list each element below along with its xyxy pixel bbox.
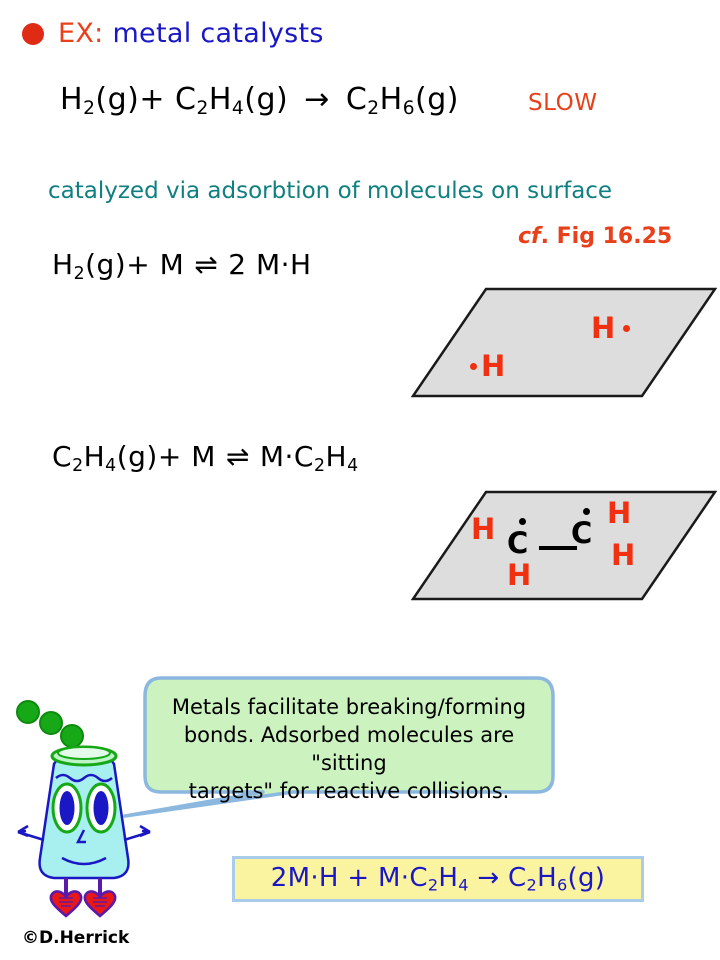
page-title: EX: metal catalysts <box>58 18 324 49</box>
speech-line-2: bonds. Adsorbed molecules are "sitting <box>143 722 555 778</box>
reaction-arrow-icon: → <box>288 82 346 117</box>
step2-metal: M <box>191 440 216 473</box>
title-main-label: metal catalysts <box>112 18 323 49</box>
figure-reference-rest: . Fig 16.25 <box>541 224 673 249</box>
bubble-icon-3 <box>61 725 83 747</box>
carbon-atom-left: C <box>507 526 528 560</box>
step-1-equation: H2(g)+ M⇌2 M·H <box>52 248 312 284</box>
step1-plus: + <box>126 248 150 281</box>
flask-character-svg <box>4 690 164 920</box>
eq-c2h6-state: (g) <box>415 82 459 117</box>
step1-h: H <box>52 248 74 281</box>
sum-term1: 2M·H <box>271 863 339 893</box>
eq-c2h4-h: H <box>209 82 232 117</box>
step2-plus: + <box>158 440 182 473</box>
step1-h-sub: 2 <box>74 264 86 284</box>
speech-line-1: Metals facilitate breaking/forming <box>143 694 555 722</box>
eq-c2h4-state: (g) <box>244 82 288 117</box>
eq-c2h6-c-sub: 2 <box>367 98 379 119</box>
sum-prod-h: H <box>537 863 557 893</box>
eq-plus: + <box>139 82 165 117</box>
catalysis-caption: catalyzed via adsorbtion of molecules on… <box>48 178 612 204</box>
slow-rate-label: SLOW <box>528 90 597 116</box>
eq-c2h6-h: H <box>380 82 403 117</box>
step2-h: H <box>84 440 106 473</box>
overall-reaction-equation: H2(g)+ C2H4(g)→C2H6(g) <box>60 82 459 119</box>
step-2-equation: C2H4(g)+ M⇌M·C2H4 <box>52 440 359 476</box>
adsorbed-hydrogen-atom-left: H <box>481 349 505 383</box>
sum-prod-h-sub: 6 <box>557 876 568 895</box>
eq-c2h4-c: C <box>175 82 196 117</box>
eq-c2h4-h-sub: 4 <box>232 98 244 119</box>
step1-metal: M <box>160 248 185 281</box>
radical-dot-icon-left <box>470 363 477 370</box>
copyright-notice: ©D.Herrick <box>22 928 129 948</box>
ethylene-hydrogen-c: H <box>607 496 631 530</box>
speech-line-3: targets" for reactive collisions. <box>143 778 555 806</box>
carbon-carbon-bond-line <box>539 546 577 550</box>
radical-dot-icon-carbon-right <box>583 508 590 515</box>
foot-right <box>85 891 115 916</box>
radical-dot-icon-carbon-left <box>519 518 526 525</box>
title-ex-label: EX: <box>58 18 104 49</box>
sum-prod-c-sub: 2 <box>527 876 538 895</box>
eq-c2h6-h-sub: 6 <box>403 98 415 119</box>
step2-product-m: M·C <box>260 440 314 473</box>
step1-product: 2 M·H <box>228 248 311 281</box>
bullet-icon <box>22 23 44 45</box>
eq-c2h4-c-sub: 2 <box>197 98 209 119</box>
foot-left <box>51 891 81 916</box>
step1-h-state: (g) <box>85 248 126 281</box>
metal-surface-diagram-ethylene: C C H H H H <box>411 490 717 602</box>
eq-c2h6-c: C <box>346 82 367 117</box>
carbon-atom-right: C <box>571 516 592 550</box>
step2-c-sub: 2 <box>72 456 84 476</box>
sum-term2b-sub: 4 <box>458 876 469 895</box>
mascot-flask-character <box>4 690 164 920</box>
sum-term2a-sub: 2 <box>428 876 439 895</box>
speech-bubble-text: Metals facilitate breaking/forming bonds… <box>143 694 555 806</box>
eq-h2-sub: 2 <box>83 98 95 119</box>
figure-reference-note: cf. Fig 16.25 <box>518 224 672 249</box>
metal-surface-diagram-hydrogen: H H <box>411 287 717 399</box>
sum-prod-c: C <box>508 863 526 893</box>
figure-reference-italic: cf <box>518 224 541 249</box>
step2-product-sub-2: 4 <box>347 456 359 476</box>
surface-parallelogram-1 <box>411 287 717 399</box>
step2-product-h: H <box>326 440 348 473</box>
sum-term2a: M·C <box>378 863 428 893</box>
sum-term2b: H <box>438 863 458 893</box>
step2-c: C <box>52 440 72 473</box>
ethylene-hydrogen-b: H <box>507 558 531 592</box>
equilibrium-arrow-icon-2: ⇌ <box>216 440 260 473</box>
step2-state: (g) <box>117 440 158 473</box>
adsorbed-hydrogen-atom-right: H <box>591 311 615 345</box>
step2-product-sub-1: 2 <box>314 456 326 476</box>
sum-prod-state: (g) <box>568 863 606 893</box>
eq-h2: H <box>60 82 83 117</box>
ethylene-hydrogen-d: H <box>611 538 635 572</box>
equilibrium-arrow-icon: ⇌ <box>184 248 228 281</box>
sum-plus: + <box>347 863 369 893</box>
summary-equation-text: 2M·H + M·C2H4 → C2H6(g) <box>271 863 605 895</box>
summary-equation-box: 2M·H + M·C2H4 → C2H6(g) <box>232 856 644 902</box>
radical-dot-icon-right <box>623 325 630 332</box>
step2-h-sub: 4 <box>105 456 117 476</box>
ethylene-hydrogen-a: H <box>471 512 495 546</box>
sum-arrow-icon: → <box>477 863 499 893</box>
bubble-icon-1 <box>17 701 39 723</box>
slide-title: EX: metal catalysts <box>22 18 324 49</box>
bubble-icon-2 <box>40 712 62 734</box>
eq-h2-state: (g) <box>95 82 139 117</box>
